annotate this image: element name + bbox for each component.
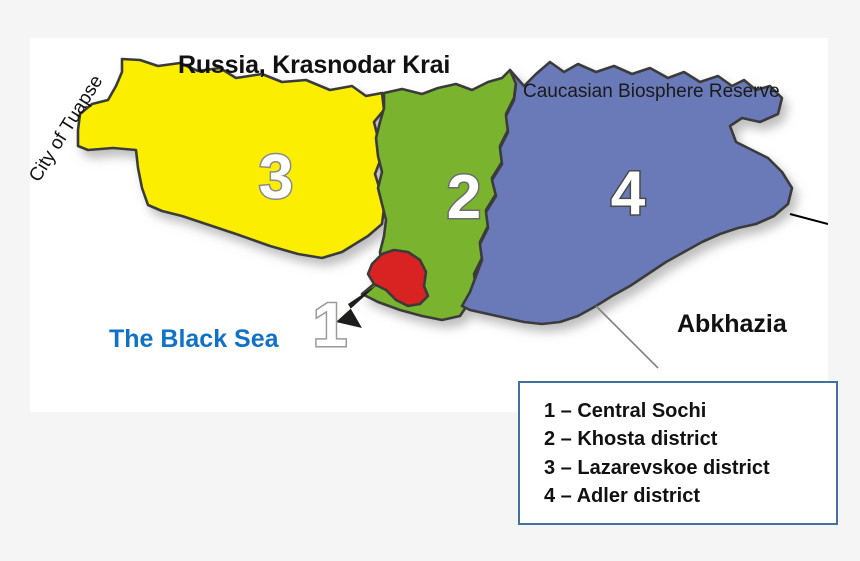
legend-item-3[interactable]: 3 – Lazarevskoe district <box>544 454 836 482</box>
map-figure: 3 2 4 1 Russia, Krasnodar Krai Caucasian… <box>0 0 860 561</box>
region-marker-1: 1 <box>313 291 347 360</box>
legend-list: 1 – Central Sochi 2 – Khosta district 3 … <box>520 383 836 511</box>
label-black-sea: The Black Sea <box>109 325 279 354</box>
legend-item-1[interactable]: 1 – Central Sochi <box>544 397 836 425</box>
region-3-lazarevskoe[interactable] <box>78 59 384 258</box>
legend-item-4[interactable]: 4 – Adler district <box>544 482 836 510</box>
label-abkhazia: Abkhazia <box>677 310 787 339</box>
legend-connector-line <box>596 306 658 368</box>
legend-item-2[interactable]: 2 – Khosta district <box>544 425 836 453</box>
label-caucasian-biosphere-reserve: Caucasian Biosphere Reserve <box>523 81 780 103</box>
page-title: Russia, Krasnodar Krai <box>178 51 450 80</box>
region-marker-2: 2 <box>447 163 481 232</box>
map-legend: 1 – Central Sochi 2 – Khosta district 3 … <box>518 381 838 525</box>
eastern-border-line <box>790 214 828 224</box>
region-marker-3: 3 <box>259 143 293 212</box>
region-marker-4: 4 <box>611 159 646 228</box>
